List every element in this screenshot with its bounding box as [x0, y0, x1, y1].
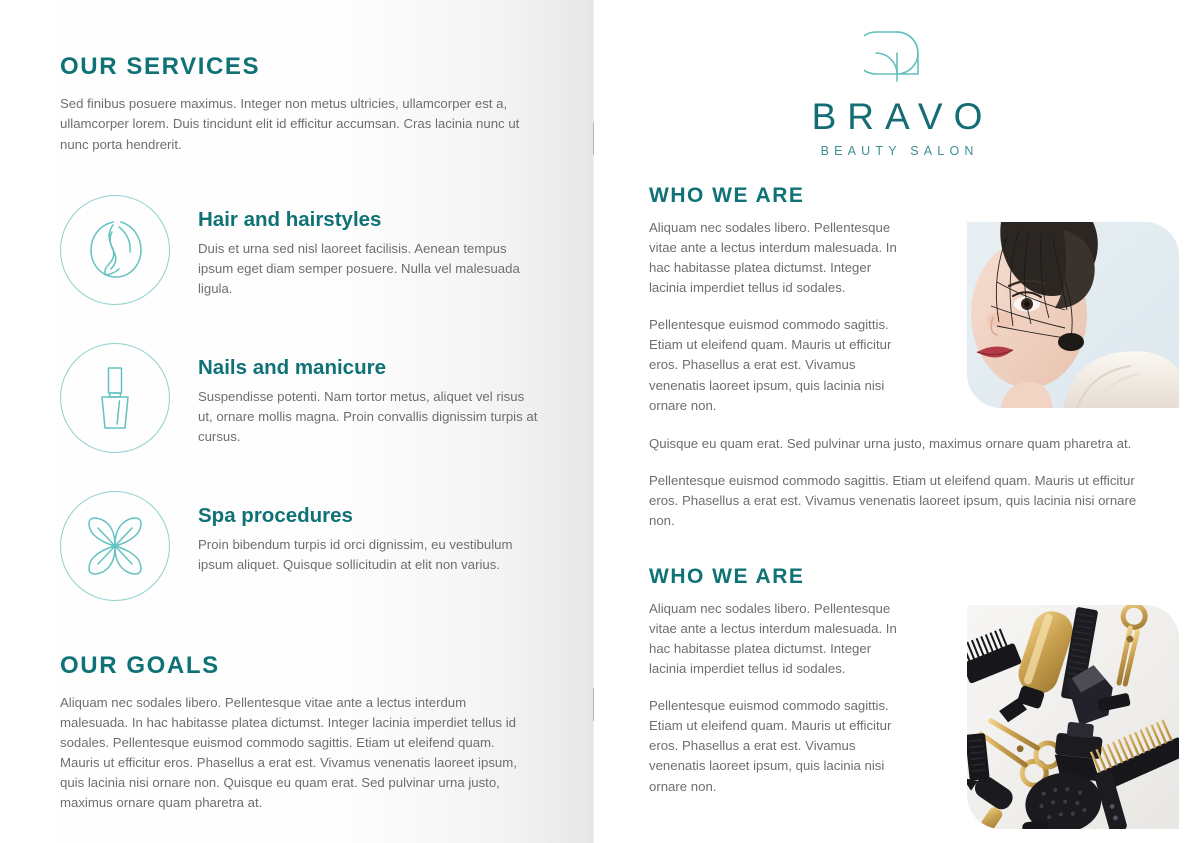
leaf-tulip-mark — [864, 26, 930, 88]
who-we-are-1-para-4: Pellentesque euismod commodo sagittis. E… — [649, 471, 1145, 531]
left-page: OUR SERVICES Sed finibus posuere maximus… — [0, 0, 594, 843]
portrait-photo-image — [967, 222, 1179, 408]
service-item-hair[interactable]: Hair and hairstyles Duis et urna sed nis… — [60, 195, 538, 305]
who-we-are-heading-1: WHO WE ARE — [649, 184, 911, 207]
hair-lock-icon — [60, 195, 170, 305]
service-item-nails[interactable]: Nails and manicure Suspendisse potenti. … — [60, 343, 538, 453]
service-title-spa: Spa procedures — [198, 504, 538, 528]
nail-polish-bottle-icon — [60, 343, 170, 453]
who-we-are-1-para-1: Aliquam nec sodales libero. Pellentesque… — [649, 218, 911, 298]
who-we-are-1-para-3: Quisque eu quam erat. Sed pulvinar urna … — [649, 434, 1145, 454]
our-goals-section: OUR GOALS Aliquam nec sodales libero. Pe… — [60, 653, 538, 814]
who-we-are-2-narrow-column: WHO WE ARE Aliquam nec sodales libero. P… — [649, 565, 911, 797]
our-goals-heading: OUR GOALS — [60, 653, 538, 679]
service-desc-nails: Suspendisse potenti. Nam tortor metus, a… — [198, 387, 538, 447]
who-we-are-1-para-2: Pellentesque euismod commodo sagittis. E… — [649, 315, 911, 415]
who-we-are-1-narrow-column: WHO WE ARE Aliquam nec sodales libero. P… — [649, 184, 911, 416]
service-title-nails: Nails and manicure — [198, 356, 538, 380]
service-desc-hair: Duis et urna sed nisl laoreet facilisis.… — [198, 239, 538, 299]
salon-tools-photo — [967, 605, 1179, 829]
brand-logo[interactable]: BRAVO BEAUTY SALON — [649, 26, 1145, 158]
who-we-are-2-para-1: Aliquam nec sodales libero. Pellentesque… — [649, 599, 911, 679]
brand-tagline: BEAUTY SALON — [649, 144, 1145, 158]
service-title-hair: Hair and hairstyles — [198, 208, 538, 232]
our-services-intro: Sed finibus posuere maximus. Integer non… — [60, 94, 530, 154]
who-we-are-heading-2: WHO WE ARE — [649, 565, 911, 588]
service-text-hair: Hair and hairstyles Duis et urna sed nis… — [198, 195, 538, 300]
brand-name: BRAVO — [649, 98, 1145, 135]
our-services-heading: OUR SERVICES — [60, 54, 538, 80]
service-text-nails: Nails and manicure Suspendisse potenti. … — [198, 343, 538, 448]
four-petal-flower-icon — [60, 491, 170, 601]
service-text-spa: Spa procedures Proin bibendum turpis id … — [198, 491, 538, 576]
who-we-are-block-2: WHO WE ARE Aliquam nec sodales libero. P… — [649, 565, 1145, 797]
our-goals-text: Aliquam nec sodales libero. Pellentesque… — [60, 693, 522, 813]
services-list: Hair and hairstyles Duis et urna sed nis… — [60, 195, 538, 601]
service-item-spa[interactable]: Spa procedures Proin bibendum turpis id … — [60, 491, 538, 601]
who-we-are-2-para-2: Pellentesque euismod commodo sagittis. E… — [649, 696, 911, 796]
right-page: BRAVO BEAUTY SALON — [594, 0, 1191, 843]
salon-tools-photo-image — [967, 605, 1179, 829]
portrait-photo — [967, 222, 1179, 408]
service-desc-spa: Proin bibendum turpis id orci dignissim,… — [198, 535, 538, 575]
brochure-spread: OUR SERVICES Sed finibus posuere maximus… — [0, 0, 1191, 843]
who-we-are-1-wide-column: Quisque eu quam erat. Sed pulvinar urna … — [649, 434, 1145, 531]
who-we-are-block-1: WHO WE ARE Aliquam nec sodales libero. P… — [649, 184, 1145, 531]
